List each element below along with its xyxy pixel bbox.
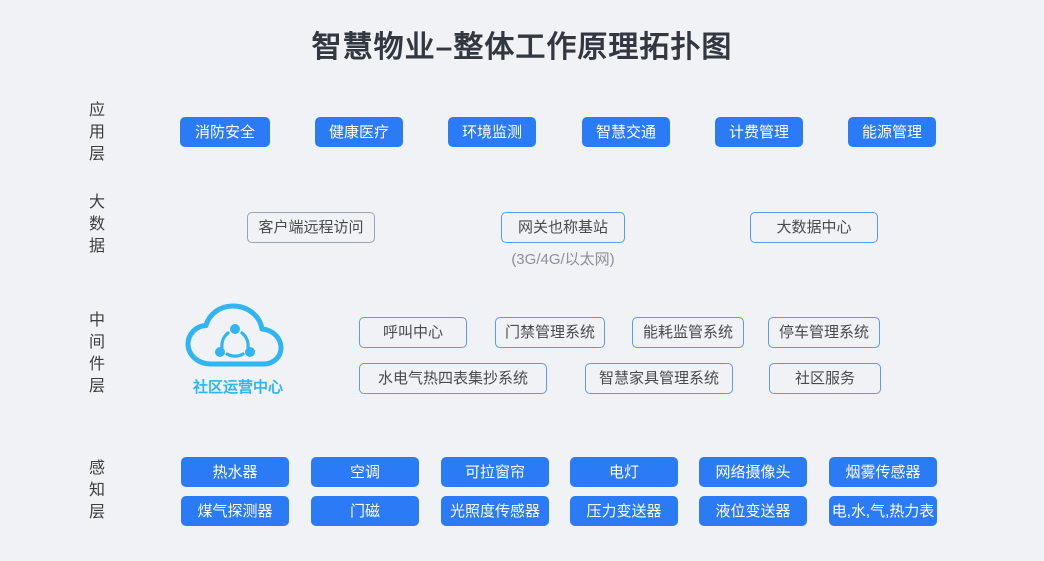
- layer-label-middleware: 中间件层: [82, 310, 112, 398]
- middleware-node-parking-management-system[interactable]: 停车管理系统: [768, 317, 880, 348]
- sensor-node-illuminance-sensor[interactable]: 光照度传感器: [441, 496, 549, 526]
- sensor-node-gas-detector[interactable]: 煤气探测器: [181, 496, 289, 526]
- middleware-node-community-service[interactable]: 社区服务: [769, 363, 881, 394]
- app-node-environment-monitoring[interactable]: 环境监测: [448, 117, 536, 147]
- app-node-energy-management[interactable]: 能源管理: [848, 117, 936, 147]
- sensor-node-curtain[interactable]: 可拉窗帘: [441, 457, 549, 487]
- middleware-node-call-center[interactable]: 呼叫中心: [359, 317, 467, 348]
- layer-label-application: 应用层: [82, 100, 112, 166]
- app-node-smart-traffic[interactable]: 智慧交通: [582, 117, 670, 147]
- sensor-node-level-transmitter[interactable]: 液位变送器: [699, 496, 807, 526]
- layer-label-perception: 感知层: [82, 458, 112, 524]
- app-node-billing-management[interactable]: 计费管理: [715, 117, 803, 147]
- community-operation-center-block[interactable]: 社区运营中心: [178, 302, 298, 398]
- bigdata-node-client-remote-access[interactable]: 客户端远程访问: [247, 212, 375, 243]
- bigdata-node-gateway-base-station[interactable]: 网关也称基站: [501, 212, 625, 243]
- community-operation-center-label: 社区运营中心: [178, 376, 298, 397]
- sensor-node-air-conditioner[interactable]: 空调: [311, 457, 419, 487]
- bigdata-node-big-data-center[interactable]: 大数据中心: [750, 212, 878, 243]
- cloud-network-icon: [178, 302, 298, 372]
- sensor-node-smoke-detector[interactable]: 烟雾传感器: [829, 457, 937, 487]
- app-node-fire-safety[interactable]: 消防安全: [180, 117, 270, 147]
- middleware-node-smart-furniture-system[interactable]: 智慧家具管理系统: [585, 363, 733, 394]
- sensor-node-pressure-transmitter[interactable]: 压力变送器: [570, 496, 678, 526]
- sensor-node-water-heater[interactable]: 热水器: [181, 457, 289, 487]
- sensor-node-network-camera[interactable]: 网络摄像头: [699, 457, 807, 487]
- app-node-health-medical[interactable]: 健康医疗: [315, 117, 403, 147]
- sensor-node-utility-meters[interactable]: 电,水,气,热力表: [829, 496, 937, 526]
- bigdata-node-gateway-note: (3G/4G/以太网): [501, 248, 625, 269]
- middleware-node-access-control-system[interactable]: 门禁管理系统: [495, 317, 605, 348]
- layer-label-bigdata: 大数据: [82, 192, 112, 258]
- page-title: 智慧物业–整体工作原理拓扑图: [0, 22, 1044, 66]
- sensor-node-door-magnet[interactable]: 门磁: [311, 496, 419, 526]
- sensor-node-electric-light[interactable]: 电灯: [570, 457, 678, 487]
- middleware-node-energy-supervision-system[interactable]: 能耗监管系统: [632, 317, 744, 348]
- middleware-node-four-meter-reading-system[interactable]: 水电气热四表集抄系统: [359, 363, 547, 394]
